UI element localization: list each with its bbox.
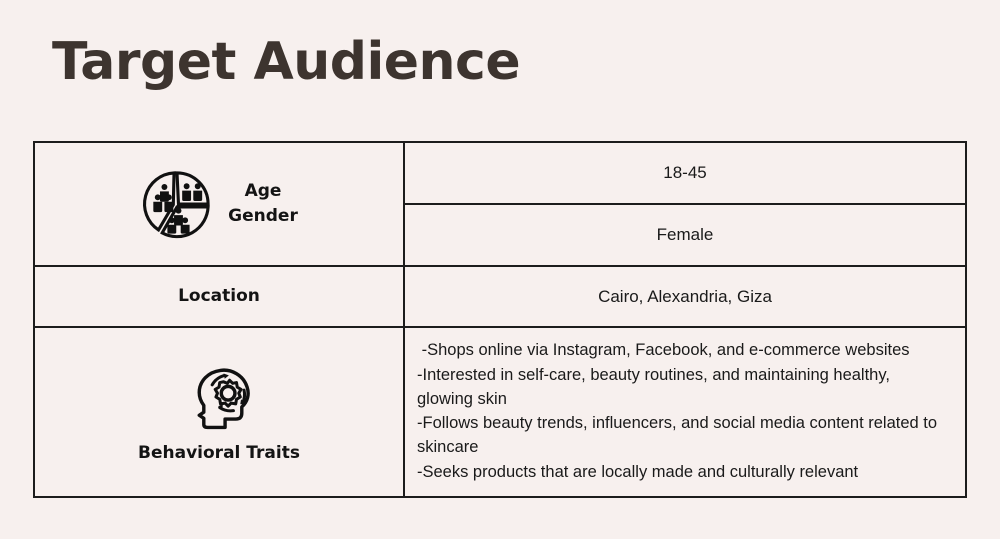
age-label: Age (245, 181, 282, 201)
list-item: -Shops online via Instagram, Facebook, a… (417, 338, 947, 362)
head-with-gear-icon (181, 359, 257, 435)
list-item: -Seeks products that are locally made an… (417, 460, 947, 484)
list-item: -Follows beauty trends, influencers, and… (417, 411, 947, 460)
table-row: Location Cairo, Alexandria, Giza (34, 266, 966, 328)
location-label-cell: Location (34, 266, 404, 328)
list-item: -Interested in self-care, beauty routine… (417, 363, 947, 412)
slide-canvas: Target Audience (0, 0, 1000, 539)
gender-label: Gender (228, 204, 298, 229)
page-title: Target Audience (52, 34, 520, 91)
target-audience-table: Age Gender 18-45 Female Location (33, 141, 967, 498)
behavioral-traits-label-cell: Behavioral Traits (34, 327, 404, 497)
demographics-pie-chart-icon (140, 167, 214, 241)
age-value-cell: 18-45 (404, 142, 966, 204)
gender-value-cell: Female (404, 204, 966, 266)
behavioral-traits-value-cell: -Shops online via Instagram, Facebook, a… (404, 327, 966, 497)
behavioral-traits-list: -Shops online via Instagram, Facebook, a… (405, 328, 965, 496)
age-gender-label-cell: Age Gender (34, 142, 404, 266)
behavioral-traits-label: Behavioral Traits (138, 441, 300, 466)
age-gender-label: Age Gender (228, 179, 298, 228)
table-row: Age Gender 18-45 (34, 142, 966, 204)
location-value: Cairo, Alexandria, Giza (405, 267, 965, 327)
location-value-cell: Cairo, Alexandria, Giza (404, 266, 966, 328)
location-label: Location (178, 284, 260, 309)
table-row: Behavioral Traits -Shops online via Inst… (34, 327, 966, 497)
gender-value: Female (405, 205, 965, 265)
age-value: 18-45 (405, 143, 965, 203)
